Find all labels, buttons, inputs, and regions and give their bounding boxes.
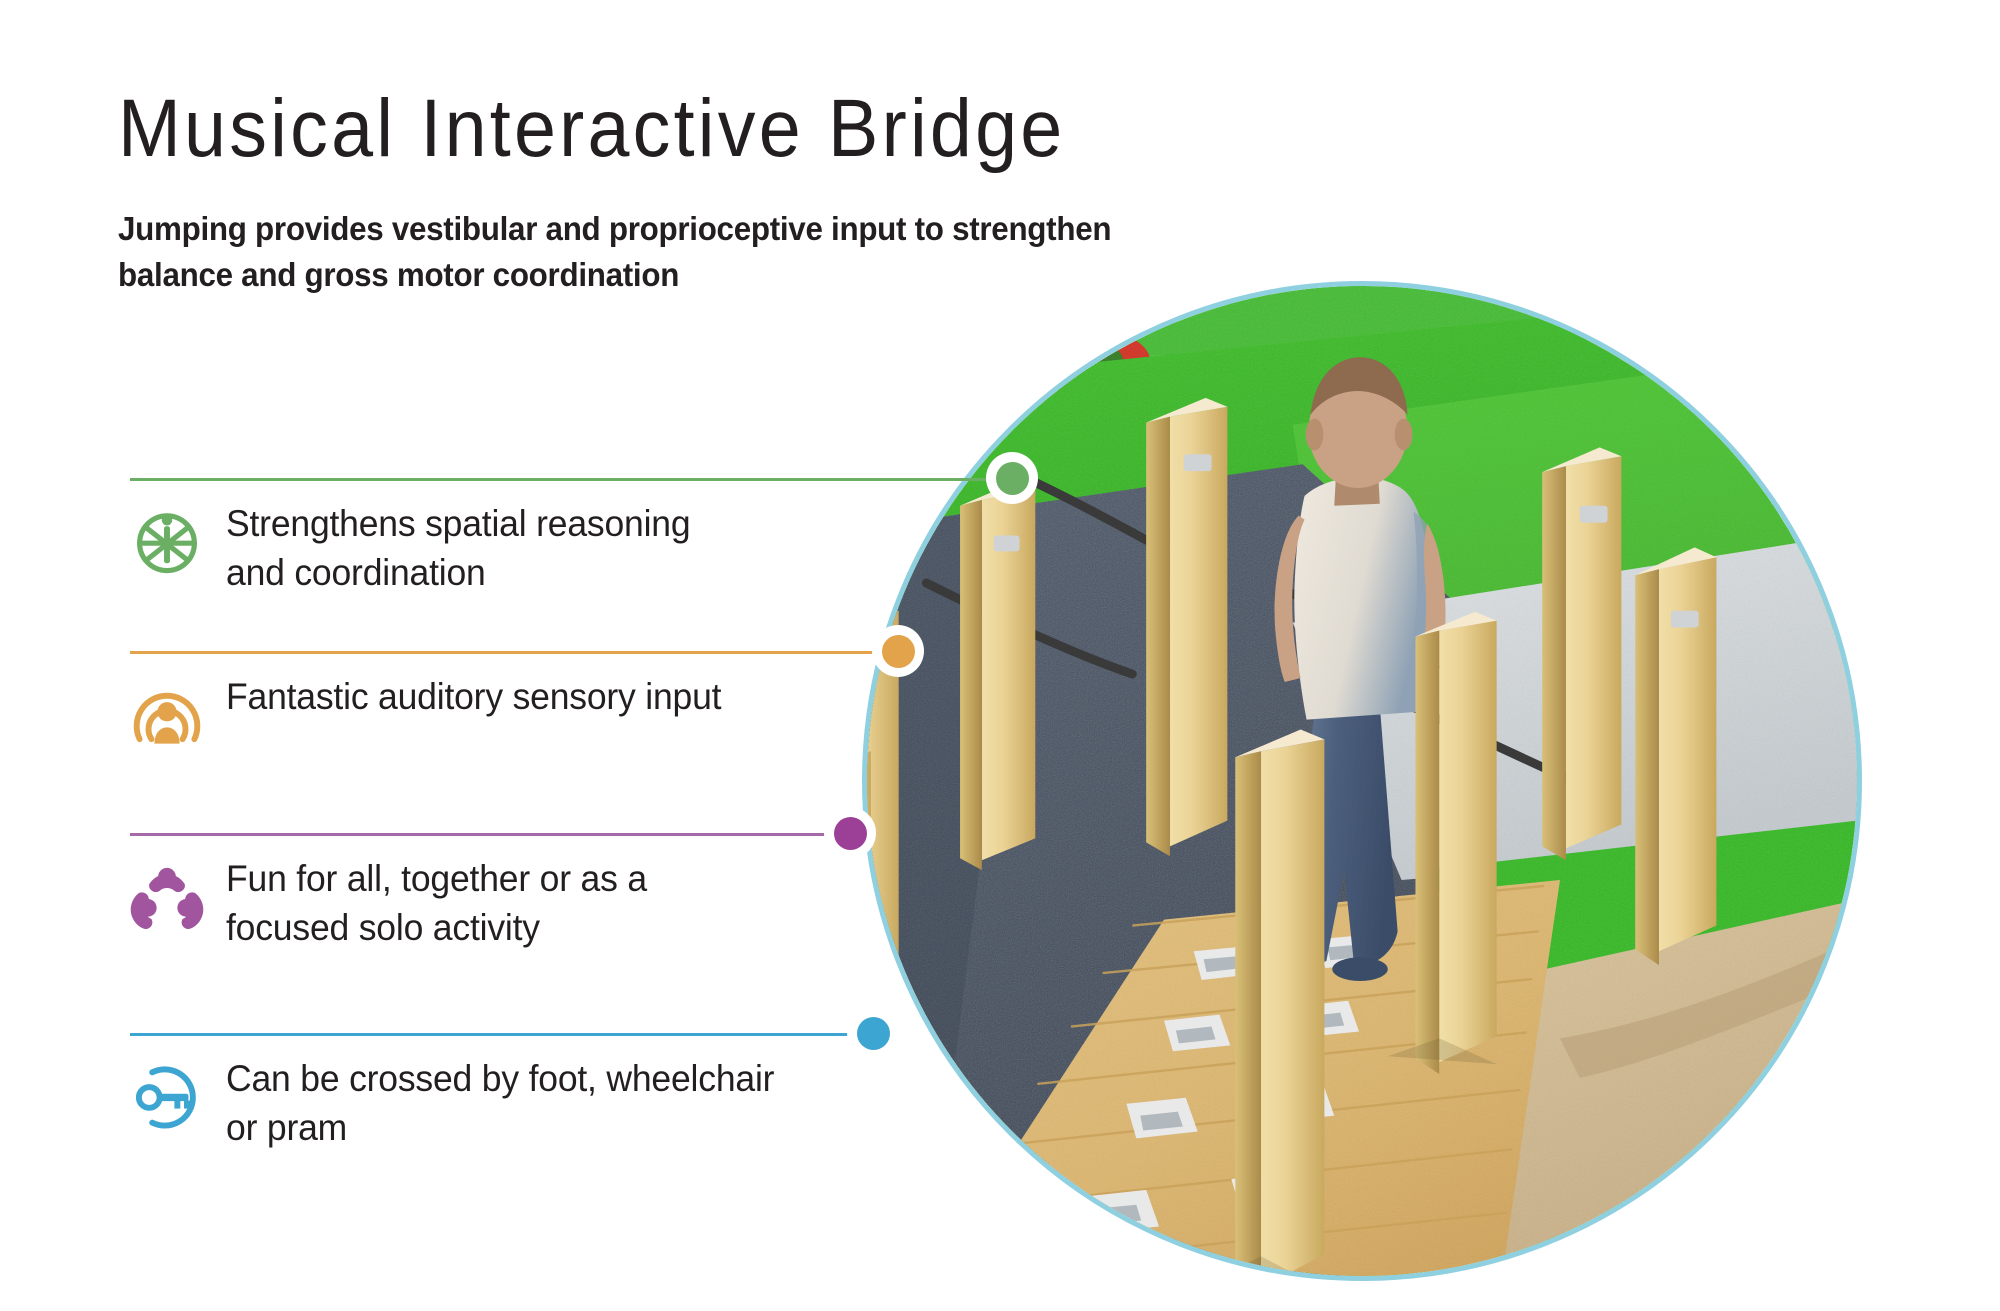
feature-label-3-line2: focused solo activity (226, 907, 540, 948)
playground-photo (867, 286, 1857, 1276)
feature-body-1: Strengthens spatial reasoning and coordi… (130, 500, 710, 598)
feature-rule-3 (130, 833, 850, 836)
spatial-wheel-icon (130, 504, 204, 578)
page-title: Musical Interactive Bridge (118, 88, 1204, 170)
feature-rule-1 (130, 478, 1012, 481)
photo-circle (862, 281, 1862, 1281)
connector-dot-3 (824, 807, 876, 859)
page-subtitle: Jumping provides vestibular and proprioc… (118, 206, 1211, 297)
feature-label-1-line2: and coordination (226, 552, 486, 593)
infographic-page: Musical Interactive Bridge Jumping provi… (0, 0, 2000, 1311)
feature-label-4-line2: or pram (226, 1107, 347, 1148)
connector-dot-1 (986, 452, 1038, 504)
connector-dot-2 (872, 625, 924, 677)
group-people-icon (130, 859, 204, 933)
feature-body-2: Fantastic auditory sensory input (130, 673, 742, 751)
feature-label-2: Fantastic auditory sensory input (226, 673, 721, 722)
feature-body-3: Fun for all, together or as a focused so… (130, 855, 664, 953)
feature-label-3-line1: Fun for all, together or as a (226, 858, 647, 899)
feature-label-1-line1: Strengthens spatial reasoning (226, 503, 690, 544)
feature-rule-2 (130, 651, 898, 654)
connector-dot-4 (847, 1007, 899, 1059)
feature-label-4: Can be crossed by foot, wheelchair or pr… (226, 1055, 774, 1153)
feature-label-3: Fun for all, together or as a focused so… (226, 855, 647, 953)
feature-label-4-line1: Can be crossed by foot, wheelchair (226, 1058, 774, 1099)
feature-label-1: Strengthens spatial reasoning and coordi… (226, 500, 690, 598)
feature-label-2-line1: Fantastic auditory sensory input (226, 676, 721, 717)
feature-rule-4 (130, 1033, 874, 1036)
auditory-broadcast-icon (130, 677, 204, 751)
key-access-icon (130, 1059, 204, 1133)
feature-body-4: Can be crossed by foot, wheelchair or pr… (130, 1055, 797, 1153)
title-block: Musical Interactive Bridge Jumping provi… (118, 88, 1298, 297)
